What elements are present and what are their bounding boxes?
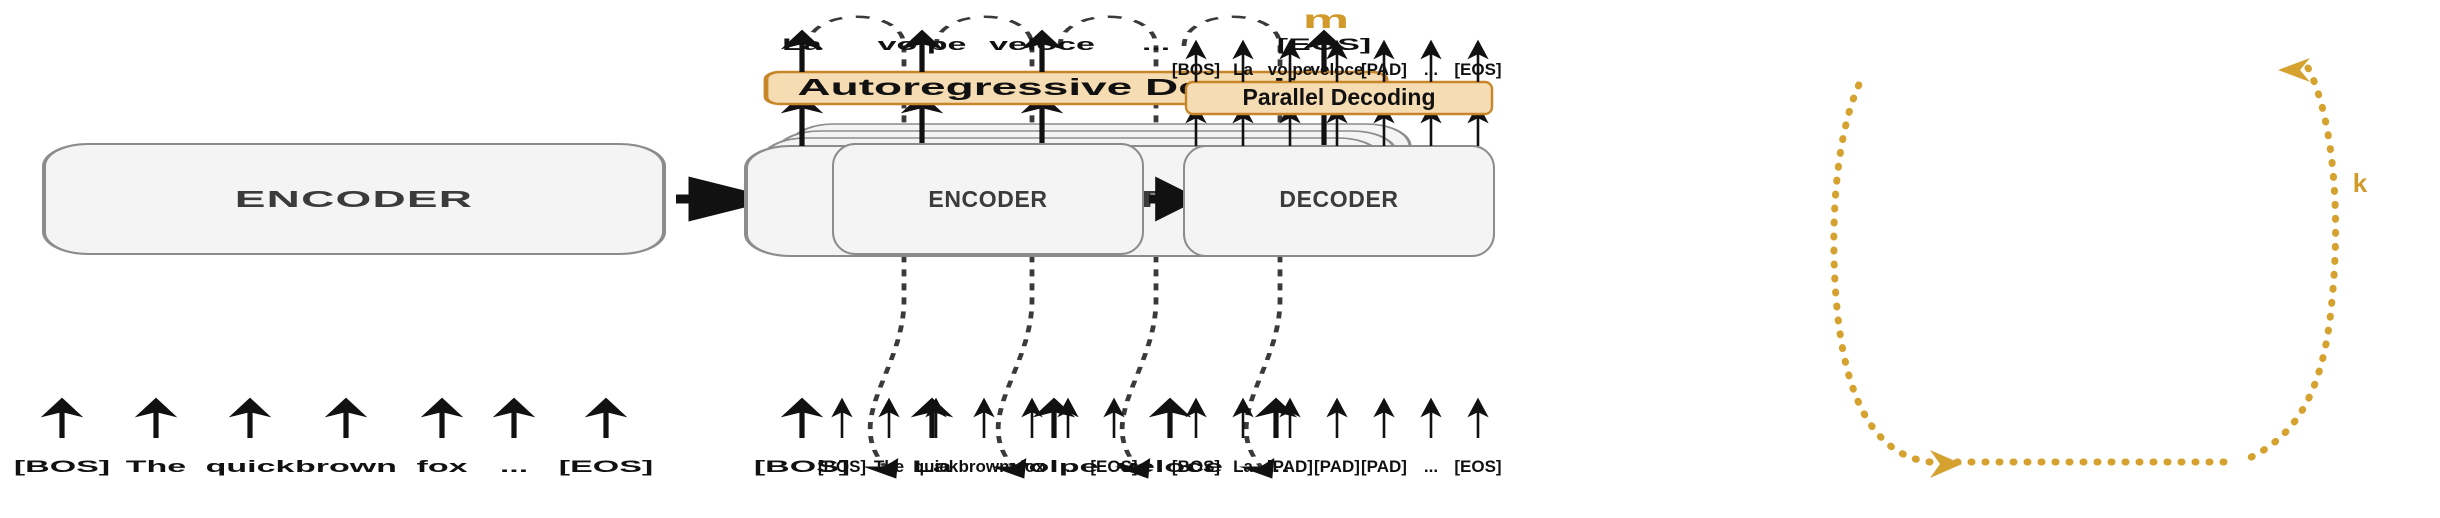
right-decoder-output-6: [EOS] (1454, 60, 1501, 79)
right-decoder-output-5: ... (1424, 60, 1438, 79)
right-decoder-input-2: [PAD] (1267, 457, 1313, 476)
left-encoder-input-3: brown (295, 457, 397, 476)
left-encoder-input-1: The (126, 457, 186, 476)
right-decoder-output-3: veloce (1311, 60, 1364, 79)
right-decoder-output-1: La (1233, 60, 1253, 79)
right-decoder-input-6: [EOS] (1454, 457, 1501, 476)
right-decoder-input-0: [BOS] (1172, 457, 1220, 476)
right-decoder-input-4: [PAD] (1361, 457, 1407, 476)
right-decoder-output-2: volpe (1268, 60, 1312, 79)
left-decoder-output-3: ... (1142, 35, 1170, 54)
left-decoder-output-1: volpe (878, 35, 967, 54)
right-encoder-label: ENCODER (928, 186, 1047, 212)
left-decoder-output-2: veloce (989, 35, 1095, 54)
gold-loop-right-segment (2240, 68, 2336, 462)
right-encoder-input-1: The (874, 457, 904, 476)
gold-loop-left-segment (1834, 78, 1930, 462)
left-encoder-input-0: [BOS] (14, 457, 110, 476)
parallel-refinement-loop (1834, 58, 2336, 478)
right-encoder-input-4: fox (1019, 457, 1045, 476)
right-encoder-input-arrows (842, 408, 1114, 438)
right-decoder-label: DECODER (1279, 186, 1398, 212)
right-decoder-output-0: [BOS] (1172, 60, 1220, 79)
left-encoder-input-6: [EOS] (559, 457, 653, 476)
right-encoder-input-6: [EOS] (1090, 457, 1137, 476)
right-loop-count-label: k (2353, 168, 2368, 198)
right-decoder-input-arrows (1196, 408, 1478, 438)
left-encoder-input-4: fox (417, 457, 468, 476)
right-decoder-input-5: ... (1424, 457, 1438, 476)
gold-loop-bottom-arrowhead (1930, 450, 1962, 478)
right-decoder-output-4: [PAD] (1361, 60, 1407, 79)
right-encoder-input-2: quick (914, 457, 959, 476)
figure-canvas: ENCODER DECODER Autoregressive Decoding (0, 0, 2440, 518)
right-decoder-input-3: [PAD] (1314, 457, 1360, 476)
left-decoder-output-0: La (782, 35, 823, 54)
right-encoder-input-5: ... (1061, 457, 1075, 476)
right-decoder-input-1: La (1233, 457, 1253, 476)
parallel-decoding-bar-label: Parallel Decoding (1242, 84, 1435, 110)
left-encoder-input-2: quick (206, 457, 295, 476)
left-loop-count-label: m (1303, 5, 1349, 34)
right-encoder-input-3: brown (959, 457, 1010, 476)
right-encoder-input-0: [BOS] (818, 457, 866, 476)
left-encoder-input-arrows (62, 408, 606, 438)
left-encoder-input-5: ... (500, 457, 528, 476)
diagram-svg: ENCODER DECODER Autoregressive Decoding (0, 0, 2440, 518)
right-panel-group: ENCODER DECODER Parallel Decoding (818, 50, 2368, 478)
left-encoder-label: ENCODER (235, 186, 473, 212)
